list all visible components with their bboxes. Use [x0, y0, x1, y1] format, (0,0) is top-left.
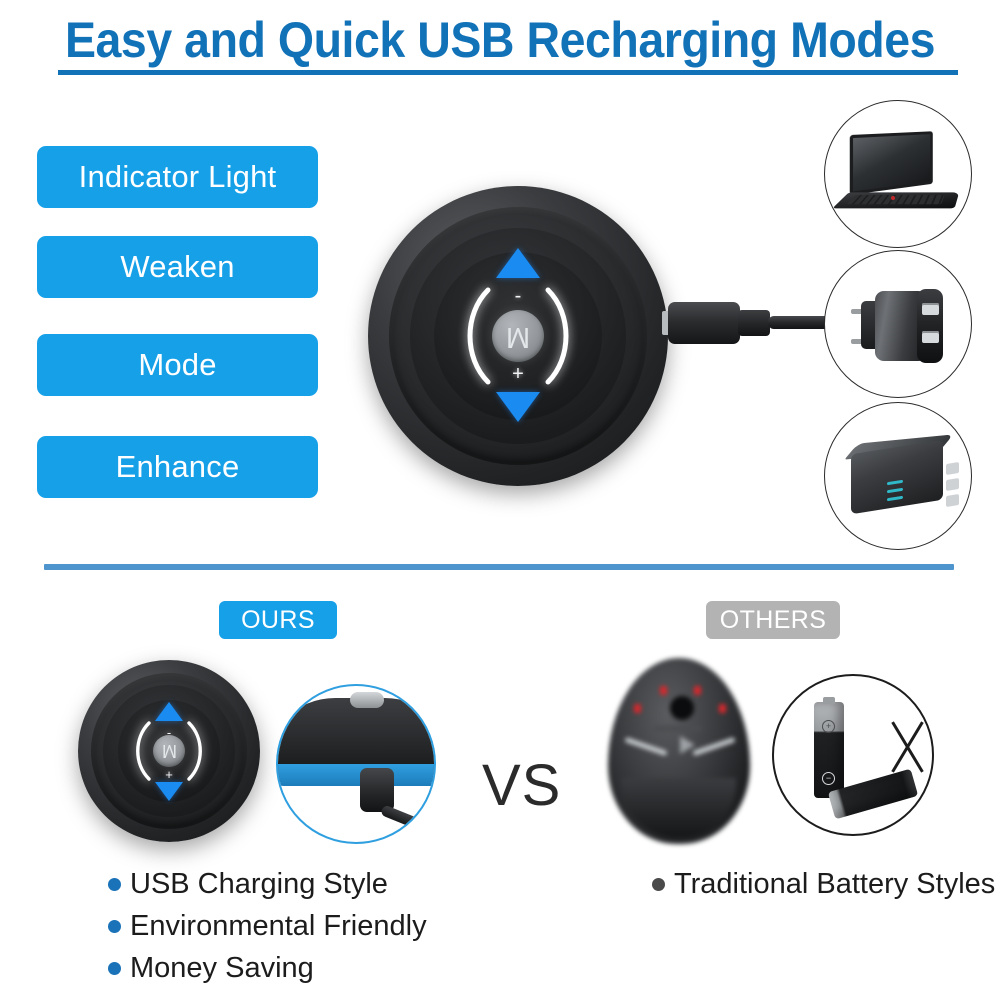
feature-label-text: Indicator Light	[79, 159, 277, 195]
battery-polarity-mark: +	[822, 720, 835, 733]
competitor-led-icon	[660, 686, 667, 695]
mode-button: M	[153, 735, 185, 767]
reject-x-icon	[886, 720, 930, 774]
charging-source-wall-charger	[824, 250, 972, 398]
plus-sign: +	[512, 364, 524, 384]
list-item: USB Charging Style	[108, 866, 427, 902]
massager-device-small: - M +	[78, 660, 260, 842]
plus-sign: +	[165, 768, 173, 781]
device-blue-accent-ring	[276, 764, 436, 786]
indicator-light-arc-right	[182, 719, 210, 783]
competitor-led-icon	[694, 686, 701, 695]
enhance-arrow-icon	[155, 702, 183, 721]
mode-button-label: M	[162, 742, 177, 760]
minus-sign: -	[515, 286, 522, 306]
bullet-label: USB Charging Style	[130, 868, 388, 901]
competitor-wing-icon	[692, 737, 735, 756]
badge-others: OTHERS	[706, 601, 840, 639]
bullet-label: Money Saving	[130, 952, 314, 985]
competitor-wing-icon	[624, 737, 667, 756]
badge-ours-label: OURS	[241, 606, 315, 635]
ours-bullet-list: USB Charging Style Environmental Friendl…	[108, 866, 427, 992]
vs-label: VS	[482, 752, 561, 819]
charger-front-face	[917, 289, 943, 363]
charger-usb-port-icon	[922, 303, 939, 315]
charging-source-power-bank	[824, 402, 972, 550]
usb-connector-neck	[738, 310, 770, 336]
list-item: Environmental Friendly	[108, 908, 427, 944]
power-bank-usb-port-icon	[946, 478, 959, 491]
feature-label-enhance[interactable]: Enhance	[37, 436, 318, 498]
usb-port-detail-circle	[276, 684, 436, 844]
battery-polarity-mark: −	[822, 772, 835, 785]
competitor-device-base	[622, 778, 736, 838]
mode-button-label: M	[506, 322, 530, 351]
laptop-keyboard-icon	[846, 195, 944, 204]
power-bank-usb-port-icon	[946, 462, 959, 475]
bullet-dot-icon	[108, 962, 121, 975]
bullet-dot-icon	[108, 920, 121, 933]
bullet-dot-icon	[652, 878, 665, 891]
usb-connector	[668, 302, 740, 344]
charger-usb-port-icon	[922, 331, 939, 343]
list-item: Money Saving	[108, 950, 427, 986]
others-bullet-list: Traditional Battery Styles	[652, 866, 995, 908]
power-bank-usb-port-icon	[946, 494, 959, 507]
feature-label-indicator-light[interactable]: Indicator Light	[37, 146, 318, 208]
competitor-play-icon	[680, 736, 695, 754]
badge-others-label: OTHERS	[720, 606, 827, 635]
feature-label-text: Weaken	[120, 249, 234, 285]
competitor-device	[608, 658, 750, 844]
battery-detail-circle: + −	[772, 674, 934, 836]
title-underline	[58, 70, 958, 75]
infographic-page: Easy and Quick USB Recharging Modes Indi…	[0, 0, 1000, 1000]
device-control-panel: - M +	[78, 660, 260, 842]
charging-source-laptop	[824, 100, 972, 248]
feature-label-weaken[interactable]: Weaken	[37, 236, 318, 298]
laptop-trackpoint-icon	[891, 196, 895, 200]
feature-label-text: Mode	[138, 347, 216, 383]
massager-device-main: - M +	[368, 186, 668, 486]
feature-label-text: Enhance	[116, 449, 240, 485]
competitor-label-bar	[654, 726, 702, 731]
enhance-arrow-icon[interactable]	[496, 248, 540, 278]
weaken-arrow-icon	[155, 782, 183, 801]
bullet-label: Traditional Battery Styles	[674, 868, 995, 901]
device-control-panel: - M +	[368, 186, 668, 486]
competitor-led-icon	[634, 704, 641, 713]
section-divider	[44, 564, 954, 570]
page-title: Easy and Quick USB Recharging Modes	[35, 14, 965, 67]
feature-label-mode[interactable]: Mode	[37, 334, 318, 396]
badge-ours: OURS	[219, 601, 337, 639]
bullet-dot-icon	[108, 878, 121, 891]
title-block: Easy and Quick USB Recharging Modes	[0, 14, 1000, 67]
indicator-light-arc-right	[538, 284, 582, 388]
usb-cable-detail	[380, 804, 436, 843]
mode-button[interactable]: M	[492, 310, 544, 362]
device-top-knob	[350, 692, 384, 708]
competitor-led-icon	[719, 704, 726, 713]
laptop-screen-icon	[850, 131, 933, 195]
bullet-label: Environmental Friendly	[130, 910, 427, 943]
competitor-lens-icon	[670, 696, 694, 720]
indicator-light-arc-left	[128, 719, 156, 783]
list-item: Traditional Battery Styles	[652, 866, 995, 902]
weaken-arrow-icon[interactable]	[496, 392, 540, 422]
